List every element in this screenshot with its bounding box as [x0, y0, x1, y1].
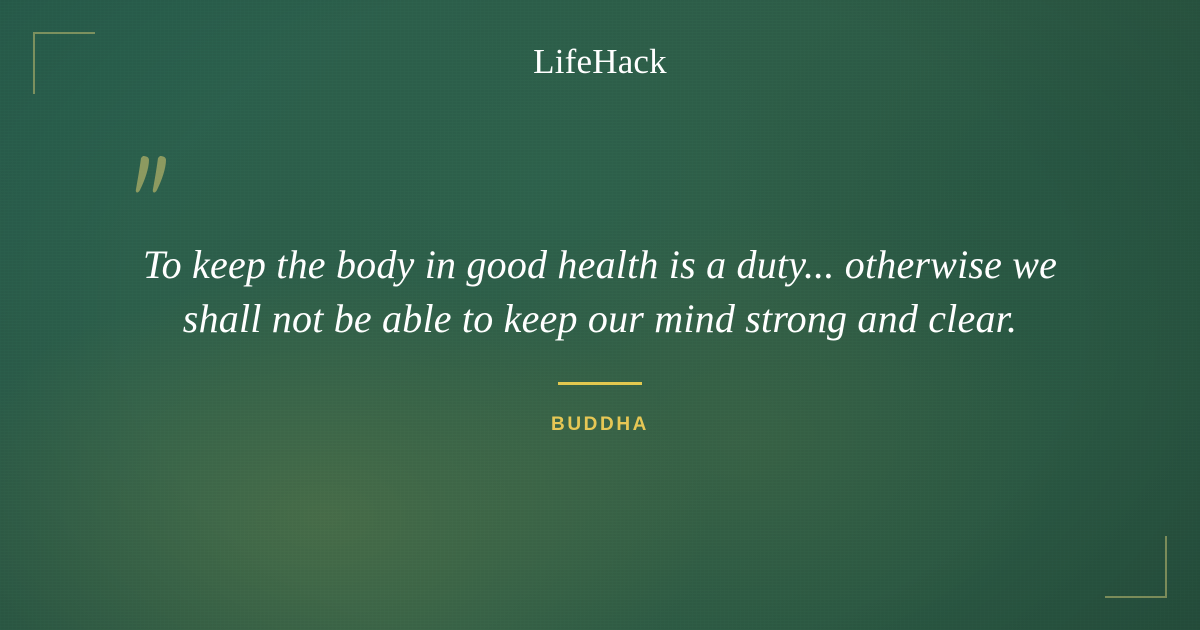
attribution-divider [558, 382, 642, 385]
quotation-mark-icon [133, 148, 193, 218]
quote-line: To keep the body in good health is a dut… [100, 238, 1100, 292]
corner-bracket-bottom-right-icon [1105, 536, 1167, 598]
lifehack-logo: LifeHack [0, 40, 1200, 84]
quote-card: LifeHack To keep the body in good health… [0, 0, 1200, 630]
quote-author: BUDDHA [0, 412, 1200, 438]
quote-line: shall not be able to keep our mind stron… [100, 292, 1100, 346]
quote-text: To keep the body in good health is a dut… [100, 238, 1100, 346]
